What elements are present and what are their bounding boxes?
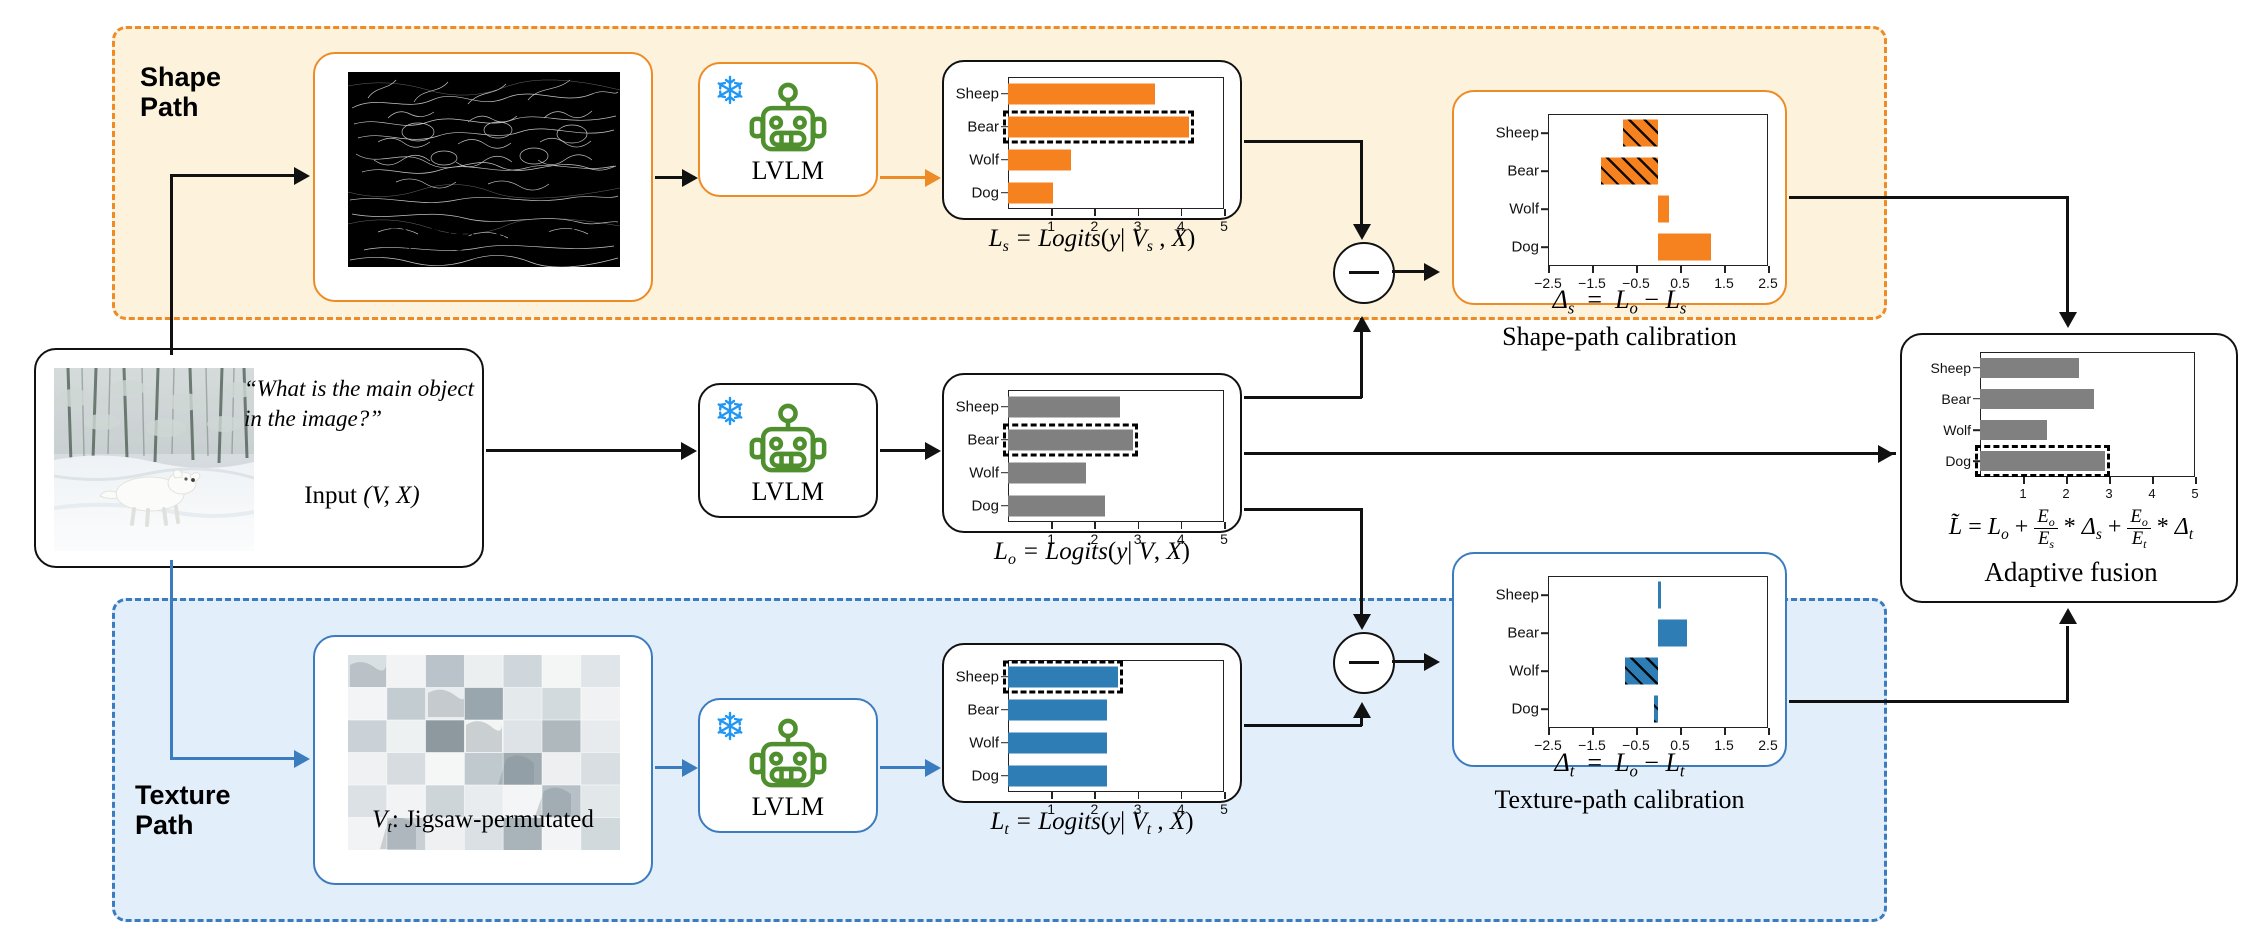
- bar: [1008, 495, 1105, 516]
- x-tick: [2195, 477, 2197, 484]
- y-axis-label: Bear: [967, 431, 999, 448]
- original-logits-card: SheepBearWolfDog12345: [942, 373, 1242, 533]
- shape-logits-caption: Ls = Logits(y| Vs , X): [930, 225, 1254, 256]
- x-tick: [1094, 792, 1096, 799]
- x-tick: [1094, 209, 1096, 216]
- conn-shape-logits-minus-h: [1244, 140, 1362, 143]
- texture-calibration-title: Texture-path calibration: [1452, 785, 1787, 815]
- shape-lvlm-label: LVLM: [700, 156, 876, 186]
- conn-input-to-shape-h: [170, 174, 296, 177]
- arrowhead-original-logits: [925, 442, 941, 460]
- snowflake-icon: [714, 710, 748, 744]
- texture-delta-caption: Δt = Lo − Lt: [1452, 748, 1787, 781]
- adaptive-fusion-title: Adaptive fusion: [1906, 557, 2236, 588]
- y-axis-label: Wolf: [969, 734, 999, 751]
- x-tick: [2066, 477, 2068, 484]
- y-tick: [1001, 159, 1008, 161]
- y-axis-label: Sheep: [1931, 360, 1971, 376]
- y-tick: [1541, 132, 1548, 134]
- y-axis-label: Sheep: [956, 85, 999, 102]
- x-tick: [1548, 728, 1550, 735]
- bar: [1008, 182, 1053, 203]
- arrowhead-shape-fusion: [2059, 312, 2077, 328]
- texture-image-card: [313, 635, 653, 885]
- highlighted-bar-outline: [1003, 110, 1194, 143]
- y-tick: [1541, 246, 1548, 248]
- input-card: “What is the main object in the image?” …: [34, 348, 484, 568]
- arrowhead-shape-calib: [1424, 263, 1440, 281]
- y-tick: [1001, 406, 1008, 408]
- arrowhead-texture-image: [294, 750, 310, 768]
- y-axis-label: Wolf: [1943, 422, 1971, 438]
- y-tick: [1973, 367, 1980, 369]
- snowflake-icon: [714, 395, 748, 429]
- x-tick: [1094, 522, 1096, 529]
- x-tick: [1138, 522, 1140, 529]
- arrowhead-original-lvlm: [681, 442, 697, 460]
- shape-image-card: [313, 52, 653, 302]
- y-axis-label: Dog: [971, 184, 999, 201]
- highlighted-bar-outline: [1003, 660, 1123, 693]
- y-axis-label: Dog: [1511, 239, 1539, 256]
- conn-shape-calib-fusion-v: [2066, 196, 2069, 314]
- arrowhead-shape-logits: [925, 169, 941, 187]
- y-axis-label: Bear: [1941, 391, 1971, 407]
- x-tick: [1636, 728, 1638, 735]
- shape-calibration-card: SheepBearWolfDog−2.5−1.5−0.50.51.52.5: [1452, 90, 1787, 305]
- x-tick: [1181, 522, 1183, 529]
- shape-path-title-line1: Shape: [140, 62, 221, 92]
- robot-icon: [747, 403, 829, 484]
- bar: [1623, 120, 1658, 147]
- arrowhead-texture-lvlm: [682, 759, 698, 777]
- y-axis-label: Wolf: [1509, 201, 1539, 218]
- texture-calibration-card: SheepBearWolfDog−2.5−1.5−0.50.51.52.5: [1452, 552, 1787, 767]
- figure-canvas: Shape Path Texture Path: [0, 0, 2263, 934]
- x-axis-label: 5: [2191, 486, 2198, 501]
- bar: [1008, 149, 1071, 170]
- conn-input-to-shape-v: [170, 230, 173, 355]
- texture-lvlm-box: LVLM: [698, 698, 878, 833]
- input-label: Input (V, X): [244, 482, 480, 510]
- robot-icon: [747, 82, 829, 163]
- x-tick: [1548, 266, 1550, 273]
- arrowhead-shape-lvlm: [682, 169, 698, 187]
- arrowhead-texture-logits-minus: [1353, 702, 1371, 718]
- texture-logits-caption: Lt = Logits(y| Vt , X): [930, 808, 1254, 839]
- y-axis-label: Sheep: [956, 668, 999, 685]
- original-logits-plot: SheepBearWolfDog12345: [1008, 390, 1224, 522]
- x-axis-label: 2: [2062, 486, 2069, 501]
- arrowhead-orig-texture-minus: [1353, 614, 1371, 630]
- texture-path-title-line1: Texture: [135, 780, 231, 810]
- bar: [1658, 620, 1687, 647]
- y-tick: [1541, 208, 1548, 210]
- texture-logits-plot: SheepBearWolfDog12345: [1008, 660, 1224, 792]
- x-tick: [2023, 477, 2025, 484]
- shape-image-caption-text: : Edge-extracted: [412, 224, 577, 251]
- x-tick: [1224, 209, 1226, 216]
- shape-lvlm-box: LVLM: [698, 62, 878, 197]
- conn-texture-logits-minus-h: [1244, 724, 1362, 727]
- x-tick: [1768, 728, 1770, 735]
- shape-delta-plot: SheepBearWolfDog−2.5−1.5−0.50.51.52.5: [1548, 114, 1768, 266]
- bar: [1008, 765, 1107, 786]
- arrowhead-shape-image: [294, 167, 310, 185]
- y-tick: [1541, 632, 1548, 634]
- highlighted-bar-outline: [1003, 423, 1138, 456]
- texture-image-caption: Vt: Jigsaw-permutated: [300, 806, 666, 837]
- x-tick: [1636, 266, 1638, 273]
- x-tick: [1724, 266, 1726, 273]
- y-axis-label: Bear: [967, 701, 999, 718]
- shape-logits-card: SheepBearWolfDog12345: [942, 60, 1242, 220]
- x-tick: [1768, 266, 1770, 273]
- shape-minus-operator: [1333, 242, 1395, 304]
- y-axis-label: Bear: [1507, 163, 1539, 180]
- y-axis-label: Sheep: [956, 398, 999, 415]
- conn-orig-texture-minus-h: [1244, 508, 1362, 511]
- arrowhead-orig-fusion: [1878, 445, 1894, 463]
- adaptive-fusion-card: SheepBearWolfDog12345 L̃ = Lo + Eo Es * …: [1900, 333, 2238, 603]
- arrowhead-shape-minus: [1353, 224, 1371, 240]
- shape-path-title: Shape Path: [140, 62, 270, 122]
- input-question-text: “What is the main object in the image?”: [244, 374, 480, 435]
- conn-shape-calib-fusion-h: [1789, 196, 2069, 199]
- conn-input-to-texture-h: [170, 757, 296, 760]
- x-tick: [1181, 209, 1183, 216]
- x-tick: [1592, 728, 1594, 735]
- y-tick: [1001, 192, 1008, 194]
- original-logits-caption: Lo = Logits(y| V, X): [930, 538, 1254, 569]
- bar: [1980, 420, 2047, 440]
- y-axis-label: Dog: [1945, 453, 1971, 469]
- x-tick: [2152, 477, 2154, 484]
- x-tick: [1680, 728, 1682, 735]
- bar: [1658, 196, 1669, 223]
- bar: [1658, 582, 1661, 609]
- shape-logits-plot: SheepBearWolfDog12345: [1008, 77, 1224, 209]
- y-axis-label: Dog: [971, 767, 999, 784]
- y-tick: [1973, 429, 1980, 431]
- fused-logits-plot: SheepBearWolfDog12345: [1980, 352, 2195, 477]
- y-axis-label: Wolf: [1509, 663, 1539, 680]
- texture-delta-plot: SheepBearWolfDog−2.5−1.5−0.50.51.52.5: [1548, 576, 1768, 728]
- y-tick: [1001, 709, 1008, 711]
- x-tick: [1138, 792, 1140, 799]
- y-axis-label: Bear: [1507, 625, 1539, 642]
- highlighted-bar-outline: [1975, 445, 2110, 477]
- conn-texture-calib-fusion-v: [2066, 626, 2069, 702]
- y-axis-label: Dog: [971, 497, 999, 514]
- conn-orig-shape-minus-h: [1244, 396, 1362, 399]
- shape-delta-caption: Δs = Lo − Ls: [1452, 285, 1787, 318]
- y-tick: [1541, 708, 1548, 710]
- conn-input-to-shape-v2: [170, 174, 173, 232]
- x-tick: [1592, 266, 1594, 273]
- conn-shape-logits-minus-v: [1360, 140, 1363, 226]
- input-image-thumbnail: [54, 368, 254, 551]
- conn-input-lvlm: [486, 449, 694, 452]
- x-tick: [1181, 792, 1183, 799]
- texture-path-title: Texture Path: [135, 780, 285, 840]
- x-tick: [1051, 792, 1053, 799]
- x-tick: [2109, 477, 2111, 484]
- bar: [1625, 658, 1658, 685]
- bar: [1008, 462, 1086, 483]
- arrowhead-texture-calib: [1424, 653, 1440, 671]
- y-tick: [1001, 93, 1008, 95]
- conn-orig-texture-minus-v: [1360, 508, 1363, 616]
- y-tick: [1541, 670, 1548, 672]
- shape-calibration-title: Shape-path calibration: [1452, 322, 1787, 352]
- x-tick: [1138, 209, 1140, 216]
- y-tick: [1001, 472, 1008, 474]
- bar: [1654, 696, 1658, 723]
- y-axis-label: Sheep: [1496, 587, 1539, 604]
- bar: [1980, 389, 2094, 409]
- conn-texture-calib-fusion-h: [1789, 700, 2069, 703]
- arrowhead-texture-logits: [925, 759, 941, 777]
- snowflake-icon: [714, 74, 748, 108]
- y-tick: [1973, 398, 1980, 400]
- texture-logits-card: SheepBearWolfDog12345: [942, 643, 1242, 803]
- y-axis-label: Bear: [967, 118, 999, 135]
- original-lvlm-label: LVLM: [700, 477, 876, 507]
- conn-input-to-texture-v: [170, 560, 173, 760]
- texture-lvlm-label: LVLM: [700, 792, 876, 822]
- y-tick: [1541, 594, 1548, 596]
- x-tick: [1680, 266, 1682, 273]
- bar: [1008, 396, 1120, 417]
- fusion-formula: L̃ = Lo + Eo Es * Δs + Eo Et * Δt: [1906, 507, 2236, 551]
- conn-orig-fusion: [1244, 452, 1896, 455]
- texture-minus-operator: [1333, 632, 1395, 694]
- shape-image-caption: Vs: Edge-extracted: [313, 224, 653, 255]
- x-tick: [1224, 522, 1226, 529]
- bar: [1601, 158, 1658, 185]
- x-tick: [1724, 728, 1726, 735]
- y-tick: [1001, 505, 1008, 507]
- x-axis-label: 4: [2148, 486, 2155, 501]
- bar: [1008, 732, 1107, 753]
- y-axis-label: Sheep: [1496, 125, 1539, 142]
- shape-path-title-line2: Path: [140, 92, 199, 122]
- arrowhead-texture-fusion: [2059, 608, 2077, 624]
- x-tick: [1051, 209, 1053, 216]
- bar: [1658, 234, 1711, 261]
- y-tick: [1541, 170, 1548, 172]
- y-axis-label: Wolf: [969, 151, 999, 168]
- x-axis-label: 3: [2105, 486, 2112, 501]
- bar: [1008, 83, 1155, 104]
- arrowhead-orig-shape-minus: [1353, 316, 1371, 332]
- x-axis-label: 1: [2019, 486, 2026, 501]
- robot-icon: [747, 718, 829, 799]
- bar: [1008, 699, 1107, 720]
- texture-path-title-line2: Path: [135, 810, 194, 840]
- original-lvlm-box: LVLM: [698, 383, 878, 518]
- y-tick: [1001, 742, 1008, 744]
- texture-image-caption-text: : Jigsaw-permutated: [392, 806, 594, 833]
- bar: [1980, 358, 2079, 378]
- y-tick: [1001, 775, 1008, 777]
- x-tick: [1224, 792, 1226, 799]
- y-axis-label: Wolf: [969, 464, 999, 481]
- y-axis-label: Dog: [1511, 701, 1539, 718]
- x-tick: [1051, 522, 1053, 529]
